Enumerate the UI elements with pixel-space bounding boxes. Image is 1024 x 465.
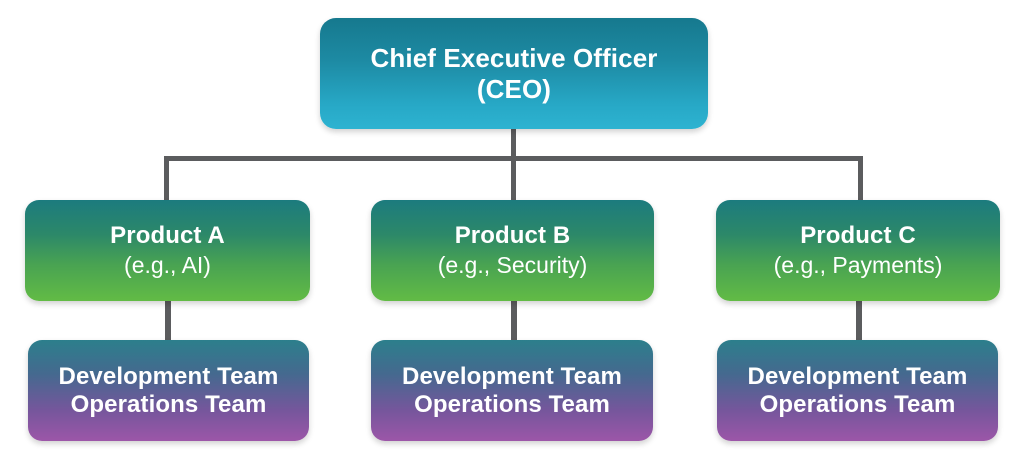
node-product-a-subtitle: (e.g., AI)	[124, 252, 211, 279]
node-product-a-title: Product A	[110, 222, 225, 250]
node-product-a[interactable]: Product A (e.g., AI)	[25, 200, 310, 301]
node-team-c-line1: Development Team	[748, 363, 968, 391]
connector-product-a-to-team	[165, 299, 171, 342]
connector-product-c-to-team	[856, 299, 862, 342]
node-product-b[interactable]: Product B (e.g., Security)	[371, 200, 654, 301]
node-team-a-line1: Development Team	[59, 363, 279, 391]
node-team-b-line1: Development Team	[402, 363, 622, 391]
node-product-b-subtitle: (e.g., Security)	[438, 252, 588, 279]
node-ceo-subtitle: (CEO)	[477, 74, 551, 104]
node-product-c[interactable]: Product C (e.g., Payments)	[716, 200, 1000, 301]
node-team-a[interactable]: Development Team Operations Team	[28, 340, 309, 441]
node-product-b-title: Product B	[455, 222, 571, 250]
node-ceo[interactable]: Chief Executive Officer (CEO)	[320, 18, 708, 129]
node-team-c[interactable]: Development Team Operations Team	[717, 340, 998, 441]
node-product-c-subtitle: (e.g., Payments)	[774, 252, 943, 279]
node-team-a-line2: Operations Team	[71, 391, 267, 419]
connector-drop-product-b	[511, 156, 516, 202]
connector-drop-product-c	[858, 156, 863, 202]
node-team-b[interactable]: Development Team Operations Team	[371, 340, 653, 441]
connector-product-b-to-team	[511, 299, 517, 342]
connector-drop-product-a	[164, 156, 169, 202]
node-product-c-title: Product C	[800, 222, 916, 250]
node-team-b-line2: Operations Team	[414, 391, 610, 419]
node-ceo-title: Chief Executive Officer	[371, 43, 658, 73]
org-chart-canvas: Chief Executive Officer (CEO) Product A …	[0, 0, 1024, 465]
node-team-c-line2: Operations Team	[760, 391, 956, 419]
